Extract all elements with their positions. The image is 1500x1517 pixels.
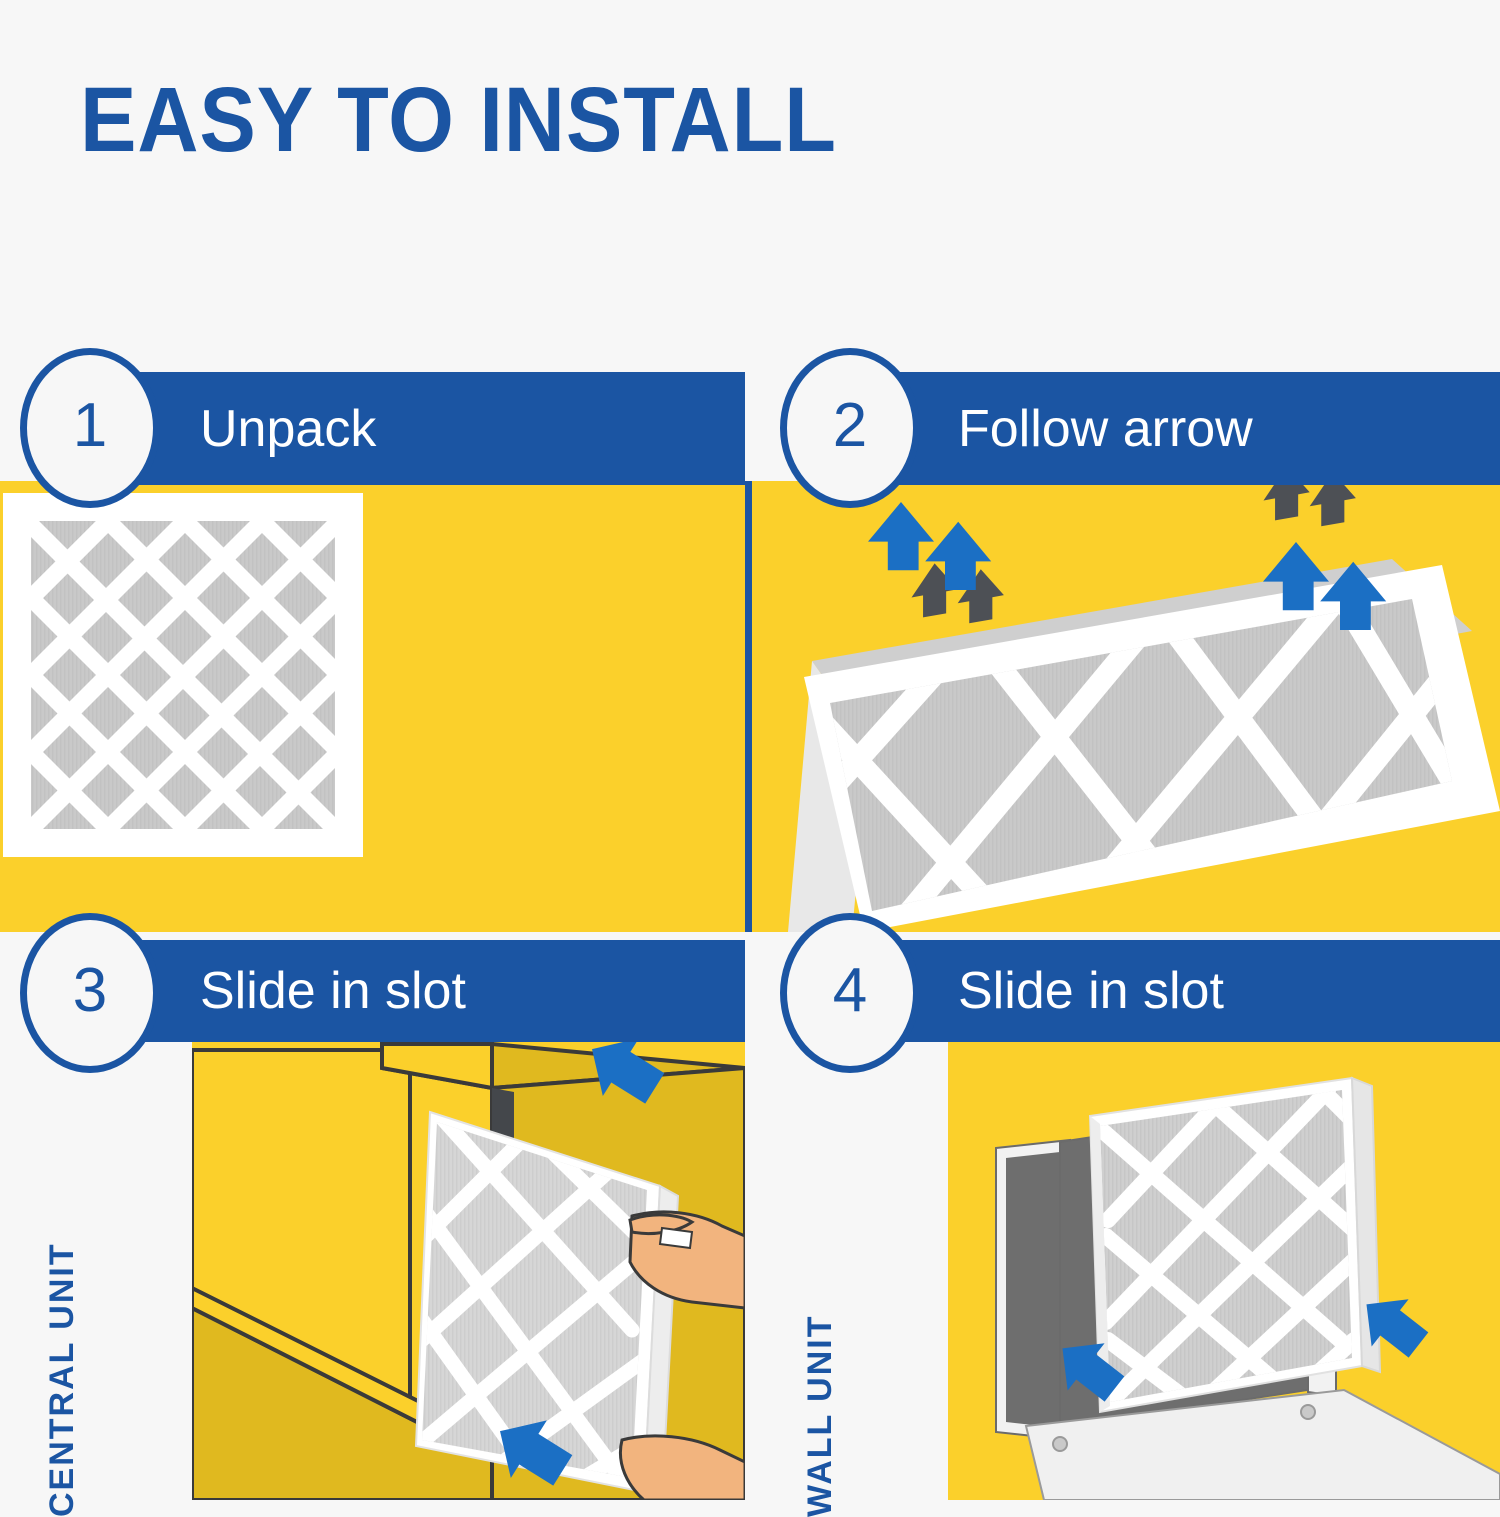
- step-3-number: 3: [73, 960, 107, 1022]
- step-4-label: Slide in slot: [958, 961, 1224, 1021]
- step-2-header-bar: Follow arrow: [845, 372, 1500, 485]
- panel-divider: [745, 481, 752, 932]
- infographic-canvas: EASY TO INSTALL: [0, 0, 1500, 1500]
- wall-unit-install-graphic: [948, 1040, 1500, 1500]
- step-2-illustration-panel: [752, 481, 1500, 932]
- step-4-header-bar: Slide in slot: [845, 940, 1500, 1042]
- step-1-number-badge: 1: [20, 348, 160, 508]
- step-3-label: Slide in slot: [200, 961, 466, 1021]
- step-2-label: Follow arrow: [958, 399, 1253, 459]
- step-1-header-bar: Unpack: [85, 372, 745, 485]
- step-1-number: 1: [73, 395, 107, 457]
- door-screw-left: [1053, 1437, 1067, 1451]
- airflow-arrow-dark-right: [1264, 481, 1356, 536]
- page-title: EASY TO INSTALL: [80, 72, 837, 168]
- step-3-side-label: CENTRAL UNIT: [43, 1242, 82, 1517]
- step-2-number-badge: 2: [780, 348, 920, 508]
- door-screw-right: [1301, 1405, 1315, 1419]
- step-1-label: Unpack: [200, 399, 376, 459]
- step-4-illustration-panel: [948, 1040, 1500, 1500]
- step-3-number-badge: 3: [20, 913, 160, 1073]
- step-4-number-badge: 4: [780, 913, 920, 1073]
- step-2-number: 2: [833, 395, 867, 457]
- step-3-header-bar: Slide in slot: [85, 940, 745, 1042]
- central-unit-install-graphic: [192, 1040, 745, 1500]
- vent-cavity-left: [1006, 1152, 1060, 1428]
- step-3-illustration-panel: [192, 1040, 745, 1500]
- step-1-illustration-panel: [0, 481, 745, 932]
- step-4-side-label: WALL UNIT: [801, 1315, 840, 1517]
- flat-air-filter-graphic: [0, 481, 745, 932]
- tilted-air-filter-graphic: [752, 481, 1500, 932]
- step-4-number: 4: [833, 960, 867, 1022]
